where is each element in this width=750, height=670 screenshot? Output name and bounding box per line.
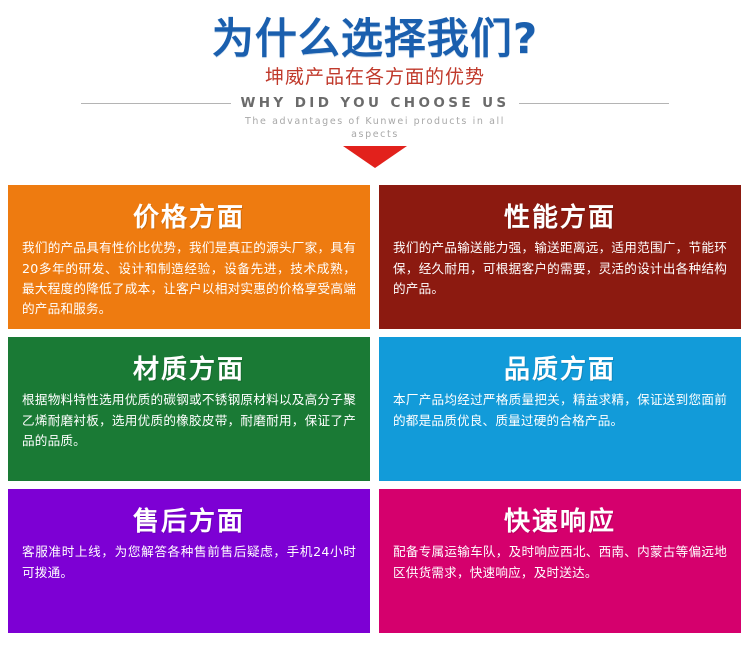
advantage-card-quality: 品质方面 本厂产品均经过严格质量把关，精益求精，保证送到您面前的都是品质优良、质… bbox=[379, 337, 741, 481]
arrow-down-container bbox=[0, 146, 750, 170]
card-title: 品质方面 bbox=[393, 355, 727, 386]
english-description: The advantages of Kunwei products in all… bbox=[225, 116, 525, 142]
advantage-card-price: 价格方面 我们的产品具有性价比优势，我们是真正的源头厂家，具有20多年的研发、设… bbox=[8, 185, 370, 329]
card-body: 我们的产品具有性价比优势，我们是真正的源头厂家，具有20多年的研发、设计和制造经… bbox=[22, 238, 356, 320]
divider-line-left bbox=[81, 103, 231, 104]
card-body: 客服准时上线，为您解答各种售前售后疑虑，手机24小时可拨通。 bbox=[22, 542, 356, 583]
card-body: 我们的产品输送能力强，输送距离远，适用范围广，节能环保，经久耐用，可根据客户的需… bbox=[393, 238, 727, 299]
card-title: 性能方面 bbox=[393, 203, 727, 234]
card-title: 价格方面 bbox=[22, 203, 356, 234]
arrow-down-icon bbox=[343, 146, 407, 168]
promo-page: 为什么选择我们? 坤威产品在各方面的优势 WHY DID YOU CHOOSE … bbox=[0, 0, 750, 670]
advantage-card-performance: 性能方面 我们的产品输送能力强，输送距离远，适用范围广，节能环保，经久耐用，可根… bbox=[379, 185, 741, 329]
advantage-card-material: 材质方面 根据物料特性选用优质的碳钢或不锈钢原材料以及高分子聚乙烯耐磨衬板，选用… bbox=[8, 337, 370, 481]
card-body: 配备专属运输车队，及时响应西北、西南、内蒙古等偏远地区供货需求，快速响应，及时送… bbox=[393, 542, 727, 583]
card-body: 根据物料特性选用优质的碳钢或不锈钢原材料以及高分子聚乙烯耐磨衬板，选用优质的橡胶… bbox=[22, 390, 356, 451]
page-header: 为什么选择我们? 坤威产品在各方面的优势 WHY DID YOU CHOOSE … bbox=[0, 0, 750, 170]
advantage-card-response: 快速响应 配备专属运输车队，及时响应西北、西南、内蒙古等偏远地区供货需求，快速响… bbox=[379, 489, 741, 633]
english-title: WHY DID YOU CHOOSE US bbox=[240, 95, 509, 111]
card-title: 材质方面 bbox=[22, 355, 356, 386]
advantage-card-grid: 价格方面 我们的产品具有性价比优势，我们是真正的源头厂家，具有20多年的研发、设… bbox=[8, 185, 742, 633]
card-title: 售后方面 bbox=[22, 507, 356, 538]
card-body: 本厂产品均经过严格质量把关，精益求精，保证送到您面前的都是品质优良、质量过硬的合… bbox=[393, 390, 727, 431]
english-title-row: WHY DID YOU CHOOSE US bbox=[0, 94, 750, 112]
page-subtitle-cn: 坤威产品在各方面的优势 bbox=[0, 67, 750, 89]
page-title: 为什么选择我们? bbox=[0, 16, 750, 61]
divider-line-right bbox=[519, 103, 669, 104]
card-title: 快速响应 bbox=[393, 507, 727, 538]
advantage-card-aftersales: 售后方面 客服准时上线，为您解答各种售前售后疑虑，手机24小时可拨通。 bbox=[8, 489, 370, 633]
